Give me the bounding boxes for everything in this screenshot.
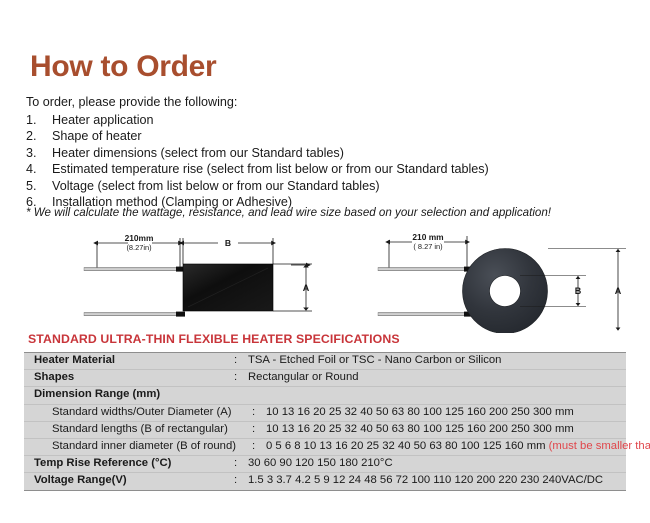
table-row: Voltage Range(V) : 1.5 3 3.7 4.2 5 9 12 … xyxy=(24,473,626,489)
page-title: How to Order xyxy=(30,50,216,84)
list-item-label: Heater application xyxy=(52,112,626,128)
rect-width-label: B xyxy=(225,238,231,248)
intro-text: To order, please provide the following: xyxy=(26,95,237,109)
round-lead-length-in: ( 8.27 in) xyxy=(413,242,442,251)
footnote-text: * We will calculate the wattage, resista… xyxy=(26,206,551,219)
row-label: Dimension Range (mm) xyxy=(24,388,234,400)
table-row: Standard inner diameter (B of round) : 0… xyxy=(24,439,626,456)
list-item: 1. Heater application xyxy=(26,112,626,128)
rect-lead-length-in: (8.27in) xyxy=(126,243,151,252)
spec-table: Heater Material : TSA - Etched Foil or T… xyxy=(24,352,626,491)
rect-height-label: A xyxy=(303,283,310,293)
list-item-number: 3. xyxy=(26,145,52,161)
list-item-number: 5. xyxy=(26,178,52,194)
list-item-number: 2. xyxy=(26,128,52,144)
table-row: Shapes : Rectangular or Round xyxy=(24,370,626,387)
row-label: Standard widths/Outer Diameter (A) xyxy=(24,406,252,418)
row-colon: : xyxy=(234,474,248,486)
table-row: Dimension Range (mm) xyxy=(24,387,626,404)
list-item-label: Heater dimensions (select from our Stand… xyxy=(52,145,626,161)
heater-diagrams: 210mm (8.27in) B A xyxy=(0,228,650,333)
rectangular-heater-diagram: 210mm (8.27in) B A xyxy=(84,233,312,317)
row-value: TSA - Etched Foil or TSC - Nano Carbon o… xyxy=(248,354,626,366)
row-value-note: (must be smaller than A) xyxy=(549,440,650,452)
row-colon: : xyxy=(234,457,248,469)
row-value: 10 13 16 20 25 32 40 50 63 80 100 125 16… xyxy=(266,406,626,418)
row-colon: : xyxy=(234,354,248,366)
row-value: Rectangular or Round xyxy=(248,371,626,383)
list-item-label: Voltage (select from list below or from … xyxy=(52,178,626,194)
row-colon: : xyxy=(252,440,266,452)
table-row: Standard widths/Outer Diameter (A) : 10 … xyxy=(24,405,626,422)
list-item-label: Shape of heater xyxy=(52,128,626,144)
rect-lead-length-mm: 210mm xyxy=(125,233,154,243)
table-row: Standard lengths (B of rectangular) : 10… xyxy=(24,422,626,439)
row-label: Shapes xyxy=(24,371,234,383)
round-outer-label: A xyxy=(615,286,622,296)
row-label: Standard lengths (B of rectangular) xyxy=(24,423,252,435)
round-lead-length-mm: 210 mm xyxy=(412,232,443,242)
list-item-label: Estimated temperature rise (select from … xyxy=(52,161,626,177)
row-value: 10 13 16 20 25 32 40 50 63 80 100 125 16… xyxy=(266,423,626,435)
row-colon: : xyxy=(252,406,266,418)
row-label: Heater Material xyxy=(24,354,234,366)
row-value-text: 0 5 6 8 10 13 16 20 25 32 40 50 63 80 10… xyxy=(266,440,546,452)
list-item: 5. Voltage (select from list below or fr… xyxy=(26,178,626,194)
list-item-number: 4. xyxy=(26,161,52,177)
table-row: Heater Material : TSA - Etched Foil or T… xyxy=(24,353,626,370)
row-label: Voltage Range(V) xyxy=(24,474,234,486)
list-item: 4. Estimated temperature rise (select fr… xyxy=(26,161,626,177)
table-row: Temp Rise Reference (°C) : 30 60 90 120 … xyxy=(24,456,626,473)
row-label: Standard inner diameter (B of round) xyxy=(24,440,252,452)
list-item: 3. Heater dimensions (select from our St… xyxy=(26,145,626,161)
row-value: 1.5 3 3.7 4.2 5 9 12 24 48 56 72 100 110… xyxy=(248,474,626,486)
row-colon: : xyxy=(234,371,248,383)
list-item-number: 1. xyxy=(26,112,52,128)
list-item: 2. Shape of heater xyxy=(26,128,626,144)
row-value: 0 5 6 8 10 13 16 20 25 32 40 50 63 80 10… xyxy=(266,440,650,452)
row-colon: : xyxy=(252,423,266,435)
row-label: Temp Rise Reference (°C) xyxy=(24,457,234,469)
round-inner-label: B xyxy=(575,286,582,296)
round-heater-diagram: 210 mm ( 8.27 in) B A xyxy=(378,232,626,333)
order-steps-list: 1. Heater application 2. Shape of heater… xyxy=(26,112,626,210)
round-heater-body xyxy=(463,249,548,334)
row-value: 30 60 90 120 150 180 210°C xyxy=(248,457,626,469)
spec-section-header: STANDARD ULTRA-THIN FLEXIBLE HEATER SPEC… xyxy=(28,332,400,346)
